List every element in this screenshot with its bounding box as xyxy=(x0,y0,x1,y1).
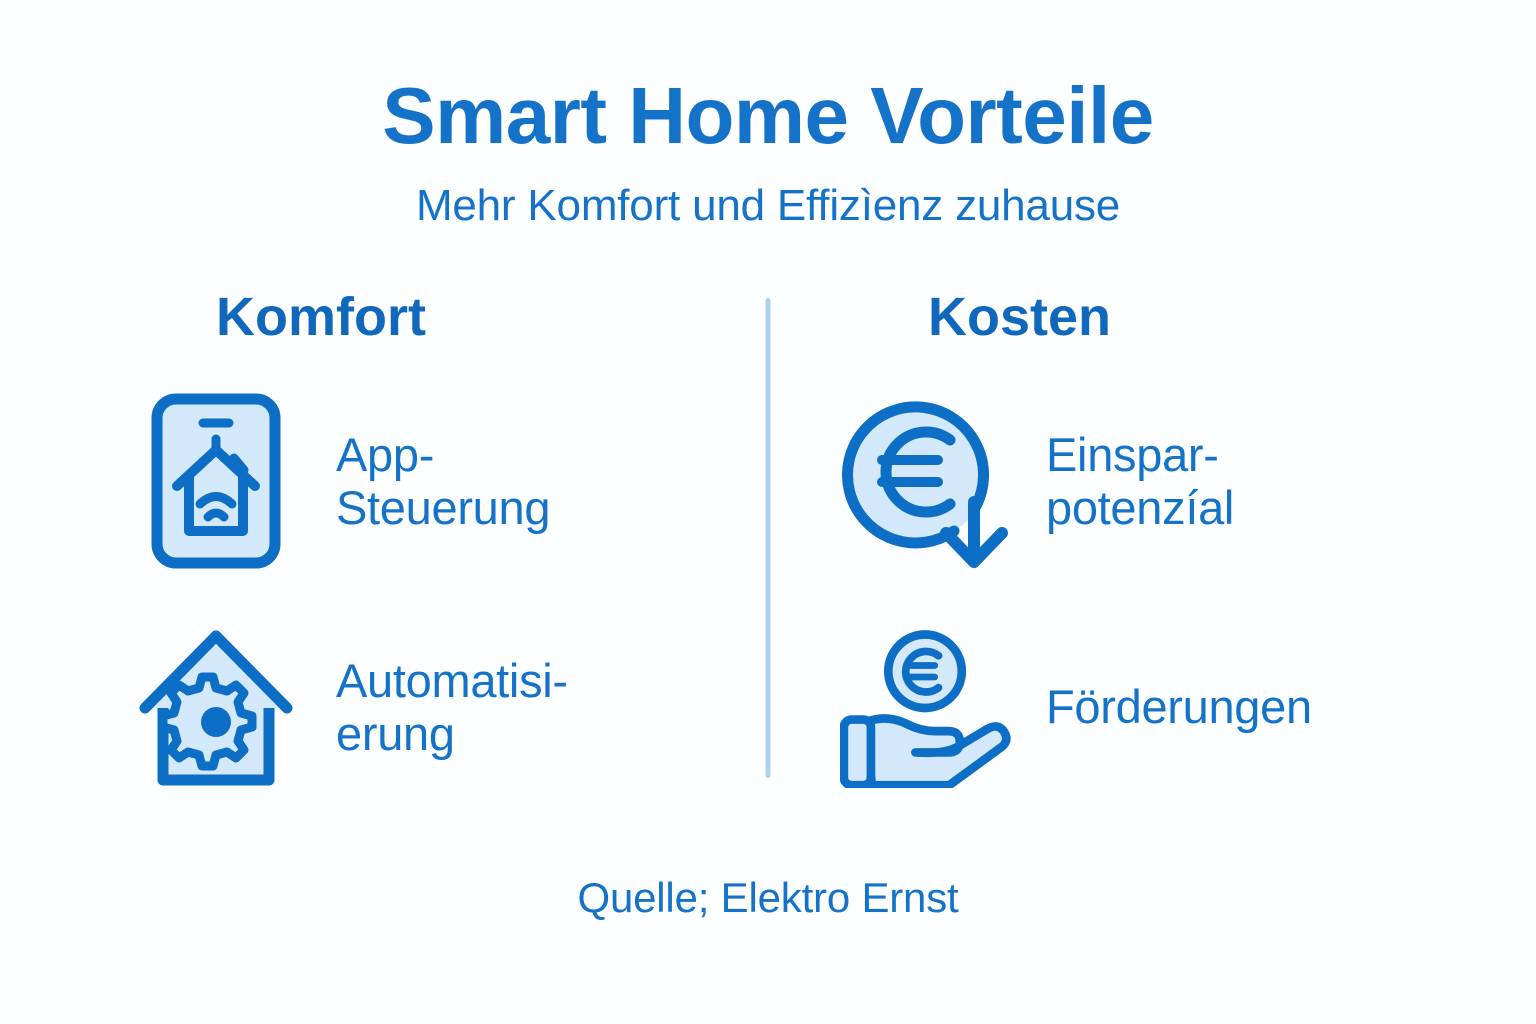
list-item: App- Steuerung xyxy=(130,388,550,574)
list-item-label: App- Steuerung xyxy=(336,428,550,534)
column-divider xyxy=(766,298,771,778)
list-item-label: Einspar- potenzíal xyxy=(1046,428,1234,534)
list-item: Automatisi- erung xyxy=(130,614,568,800)
list-item-label: Automatisi- erung xyxy=(336,654,568,760)
page-title: Smart Home Vorteile xyxy=(0,76,1536,156)
list-item-label: Förderungen xyxy=(1046,680,1312,733)
phone-smart-home-icon xyxy=(130,388,302,574)
column-komfort: Komfort xyxy=(118,290,768,818)
footer: Quelle; Elektro Ernst xyxy=(0,874,1536,922)
columns-container: Komfort xyxy=(58,290,1478,818)
infographic-root: Smart Home Vorteile Mehr Komfort und Eff… xyxy=(0,0,1536,1024)
column-heading-kosten: Kosten xyxy=(928,290,1111,344)
header: Smart Home Vorteile Mehr Komfort und Eff… xyxy=(0,76,1536,228)
column-kosten: Kosten xyxy=(768,290,1418,818)
list-item: Förderungen xyxy=(840,614,1312,800)
euro-coin-down-arrow-icon xyxy=(840,388,1012,574)
page-subtitle: Mehr Komfort und Effizìenz zuhause xyxy=(0,184,1536,228)
hand-euro-coin-icon xyxy=(840,614,1012,800)
house-gear-icon xyxy=(130,614,302,800)
list-item: Einspar- potenzíal xyxy=(840,388,1234,574)
source-attribution: Quelle; Elektro Ernst xyxy=(578,874,959,921)
column-heading-komfort: Komfort xyxy=(216,290,426,344)
